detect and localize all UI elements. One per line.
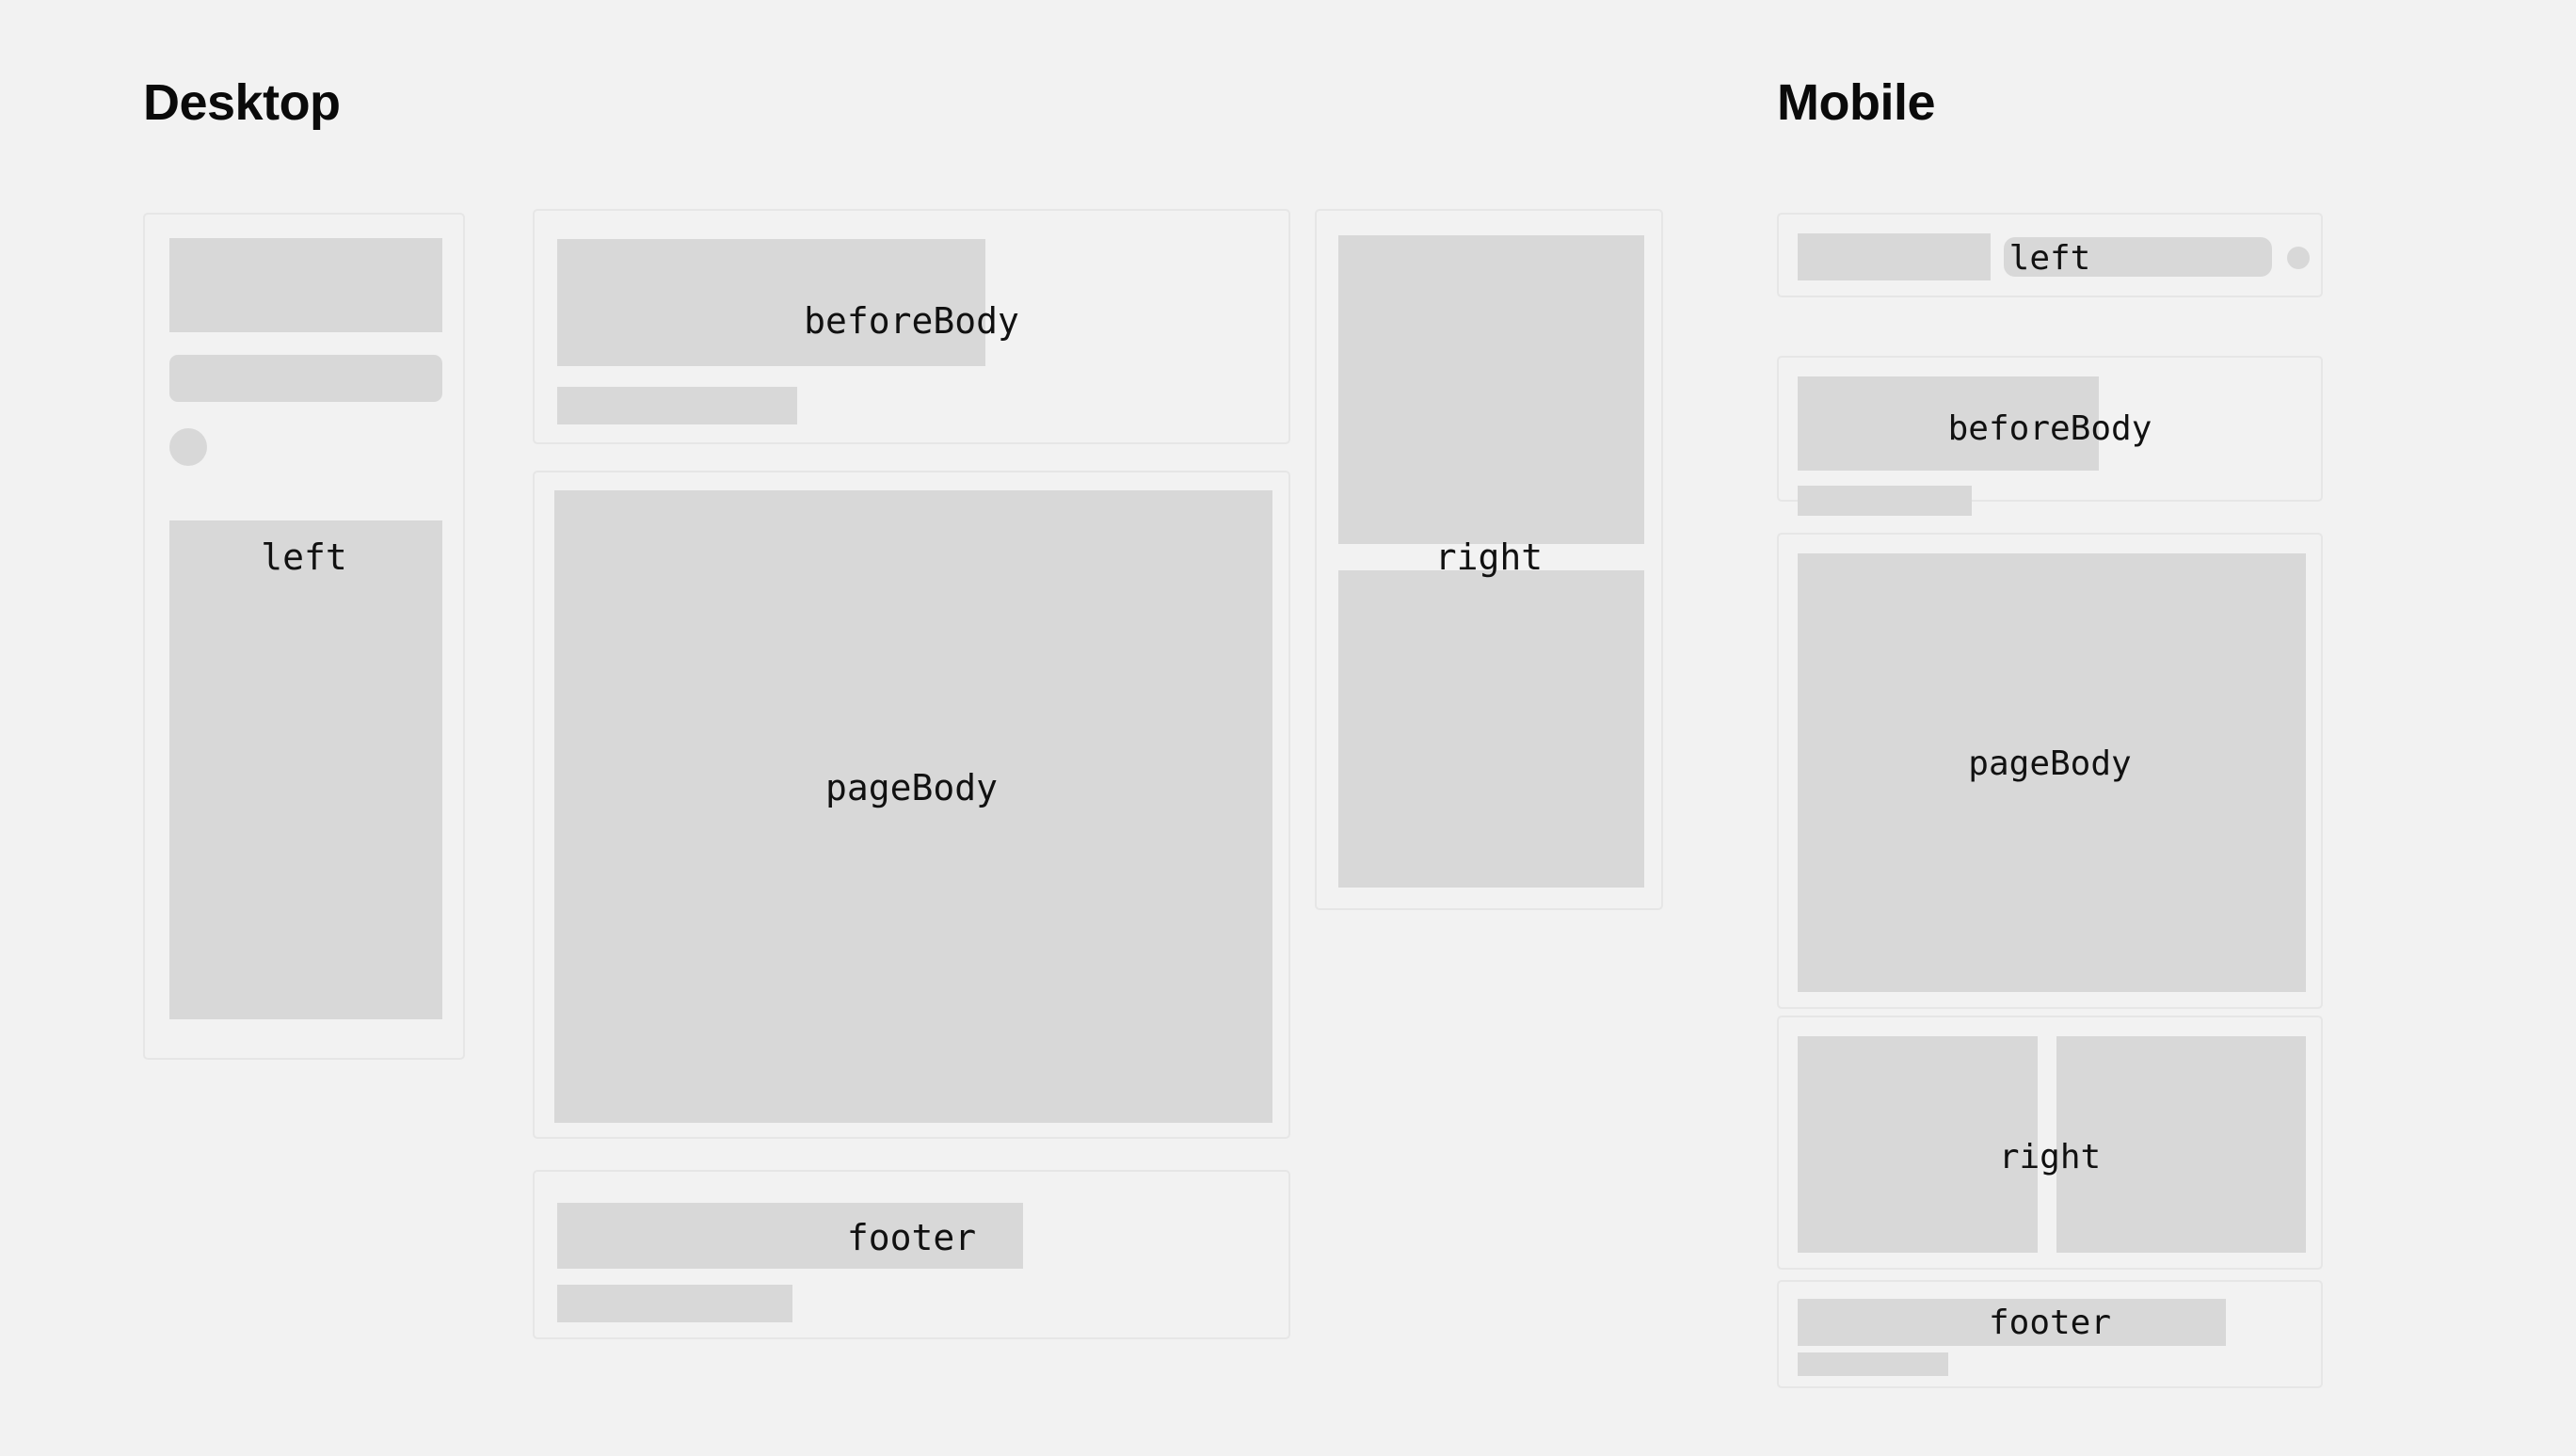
mobile-left-slot-panel[interactable] bbox=[1777, 213, 2323, 297]
desktop-left-slot-panel[interactable] bbox=[143, 213, 465, 1060]
placeholder-avatar-circle bbox=[169, 428, 207, 466]
mobile-before-body-slot-panel[interactable] bbox=[1777, 356, 2323, 502]
placeholder-block bbox=[557, 1285, 792, 1322]
placeholder-block bbox=[169, 520, 442, 1019]
placeholder-block bbox=[1338, 235, 1644, 544]
desktop-before-body-slot-panel[interactable] bbox=[533, 209, 1290, 444]
placeholder-block bbox=[1798, 553, 2306, 992]
desktop-section-heading: Desktop bbox=[143, 77, 341, 128]
placeholder-avatar-circle bbox=[2287, 247, 2310, 269]
desktop-footer-slot-panel[interactable] bbox=[533, 1170, 1290, 1339]
placeholder-block bbox=[1798, 1036, 2038, 1253]
placeholder-block bbox=[1798, 1299, 2226, 1346]
placeholder-block bbox=[169, 238, 442, 332]
mobile-footer-slot-panel[interactable] bbox=[1777, 1280, 2323, 1388]
mobile-right-slot-panel[interactable] bbox=[1777, 1016, 2323, 1270]
placeholder-block bbox=[557, 387, 797, 424]
placeholder-block bbox=[557, 1203, 1023, 1269]
placeholder-block bbox=[2004, 237, 2272, 277]
placeholder-block bbox=[1798, 1352, 1948, 1376]
placeholder-block bbox=[169, 355, 442, 402]
placeholder-block bbox=[1338, 570, 1644, 888]
placeholder-block bbox=[1798, 486, 1972, 516]
placeholder-block bbox=[557, 239, 985, 366]
placeholder-block bbox=[1798, 376, 2099, 471]
placeholder-block bbox=[1798, 233, 1991, 280]
desktop-page-body-slot-panel[interactable] bbox=[533, 471, 1290, 1139]
mobile-page-body-slot-panel[interactable] bbox=[1777, 533, 2323, 1009]
wireframe-canvas: Desktop left beforeBody pageBody right f… bbox=[0, 0, 2576, 1456]
placeholder-block bbox=[2056, 1036, 2306, 1253]
desktop-right-slot-panel[interactable] bbox=[1315, 209, 1663, 910]
mobile-section-heading: Mobile bbox=[1777, 77, 1935, 128]
placeholder-block bbox=[554, 490, 1272, 1123]
